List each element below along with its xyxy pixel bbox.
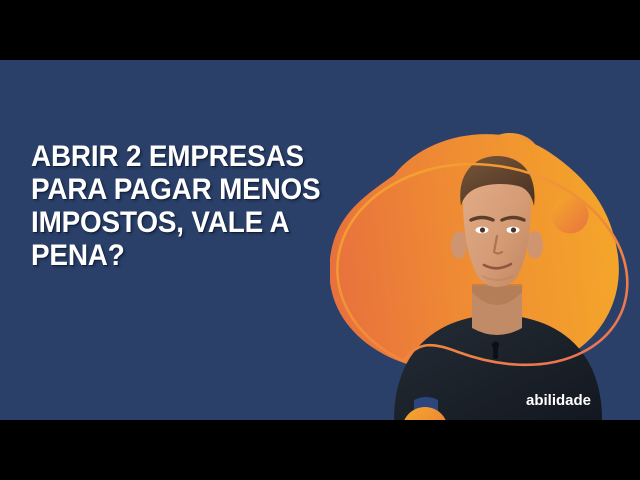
headline-line-1: ABRIR 2 EMPRESAS [31,140,329,173]
thumbnail-stage: abilidade ABRIR 2 EMPRESAS PARA PAGAR ME… [0,60,640,420]
ear-right [527,231,543,259]
ear-left [451,231,467,259]
letterbox-bar-top [0,0,640,60]
pupil-right [511,227,516,232]
portrait-composition: abilidade [330,60,640,420]
headline-line-2: PARA PAGAR MENOS [31,173,329,206]
shirt-text: abilidade [526,392,591,409]
pupil-left [480,227,485,232]
video-frame: abilidade ABRIR 2 EMPRESAS PARA PAGAR ME… [0,0,640,480]
headline-line-4: PENA? [31,239,329,272]
headline: ABRIR 2 EMPRESAS PARA PAGAR MENOS IMPOST… [31,140,351,272]
letterbox-bar-bottom [0,420,640,480]
headline-line-3: IMPOSTOS, VALE A [31,206,329,239]
